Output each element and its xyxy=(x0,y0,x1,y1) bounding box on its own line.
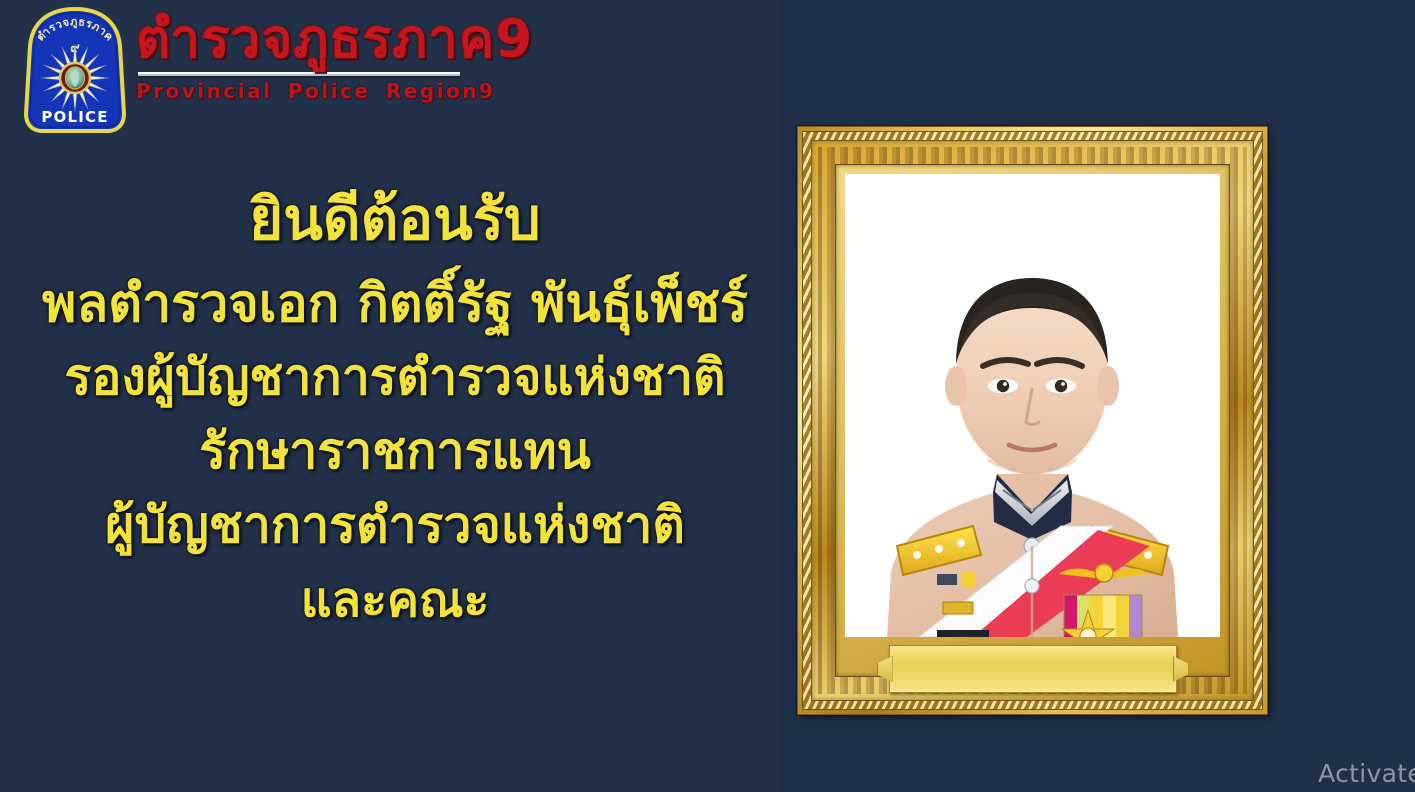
welcome-line-5: ผู้บัญชาการตำรวจแห่งชาติ xyxy=(0,500,790,550)
police-shield-badge-icon: ตำรวจภูธรภาค ๙ xyxy=(14,6,136,134)
portrait-nameplate-text xyxy=(890,646,1176,692)
org-title-english: Provincial Police Region9 xyxy=(136,79,506,103)
org-title-thai: ตำรวจภูธรภาค9 xyxy=(136,12,506,68)
title-divider xyxy=(138,72,460,76)
welcome-text-block: ยินดีต้อนรับ พลตำรวจเอก กิตติ์รัฐ พันธุ์… xyxy=(0,190,790,624)
welcome-line-3: รองผู้บัญชาการตำรวจแห่งชาติ xyxy=(0,352,790,402)
org-title-block: ตำรวจภูธรภาค9 Provincial Police Region9 xyxy=(136,12,506,103)
welcome-line-6: และคณะ xyxy=(0,576,790,624)
portrait-frame xyxy=(797,126,1268,715)
welcome-slide: ตำรวจภูธรภาค ๙ xyxy=(0,0,1415,792)
activation-watermark: Activate xyxy=(1318,759,1415,788)
header: ตำรวจภูธรภาค ๙ xyxy=(0,0,520,140)
welcome-line-1: ยินดีต้อนรับ xyxy=(0,190,790,248)
svg-text:POLICE: POLICE xyxy=(41,108,108,126)
welcome-line-4: รักษาราชการแทน xyxy=(0,426,790,476)
officer-portrait-photo xyxy=(845,174,1220,637)
portrait-nameplate xyxy=(889,645,1177,693)
welcome-line-2: พลตำรวจเอก กิตติ์รัฐ พันธุ์เพ็ชร์ xyxy=(0,278,790,330)
